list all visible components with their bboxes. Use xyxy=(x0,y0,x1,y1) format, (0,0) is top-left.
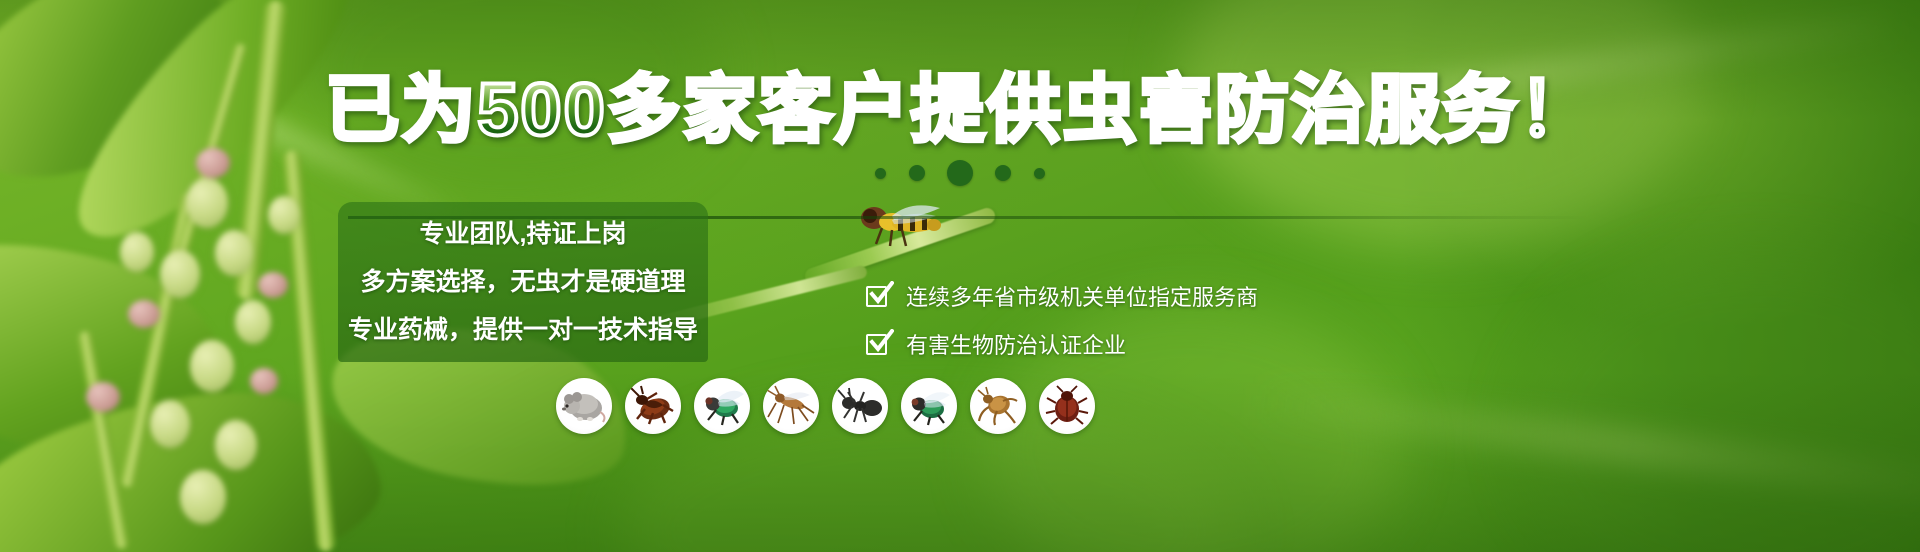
selling-point-line-2: 多方案选择，无虫才是硬道理 xyxy=(360,260,685,304)
cockroach-icon xyxy=(625,378,681,434)
banner-headline: 已为500多家客户提供虫害防治服务！ xyxy=(0,70,1920,150)
checkbox-checked-icon xyxy=(866,283,892,309)
selling-point-line-3: 专业药械，提供一对一技术指导 xyxy=(348,308,698,352)
ant-icon xyxy=(832,378,888,434)
checkbox-checked-icon xyxy=(866,331,892,357)
pest-icon-row xyxy=(556,378,1095,434)
dot-small-right xyxy=(1034,168,1045,179)
mosquito-icon xyxy=(763,378,819,434)
certification-checklist: 连续多年省市级机关单位指定服务商 有害生物防治认证企业 xyxy=(866,272,1258,368)
dot-medium-left xyxy=(909,165,925,181)
hoverfly-icon xyxy=(848,196,960,252)
banner-headline-text: 已为500多家客户提供虫害防治服务！ xyxy=(325,70,1594,150)
dot-large-center xyxy=(947,160,973,186)
checklist-item-1: 连续多年省市级机关单位指定服务商 xyxy=(866,272,1258,320)
blowfly-icon xyxy=(901,378,957,434)
mouse-icon xyxy=(556,378,612,434)
checklist-item-2: 有害生物防治认证企业 xyxy=(866,320,1258,368)
dot-small-left xyxy=(875,168,886,179)
bedbug-icon xyxy=(1039,378,1095,434)
selling-point-line-1: 专业团队,持证上岗 xyxy=(420,212,627,256)
decorative-dots xyxy=(0,160,1920,186)
dot-medium-right xyxy=(995,165,1011,181)
promo-banner: 已为500多家客户提供虫害防治服务！ 专业团队,持证上岗 多方案选择，无虫才是硬… xyxy=(0,0,1920,552)
checklist-item-2-label: 有害生物防治认证企业 xyxy=(906,328,1126,360)
checklist-item-1-label: 连续多年省市级机关单位指定服务商 xyxy=(906,280,1258,312)
fly-icon xyxy=(694,378,750,434)
flea-icon xyxy=(970,378,1026,434)
selling-points-text: 专业团队,持证上岗 多方案选择，无虫才是硬道理 专业药械，提供一对一技术指导 xyxy=(338,202,708,362)
